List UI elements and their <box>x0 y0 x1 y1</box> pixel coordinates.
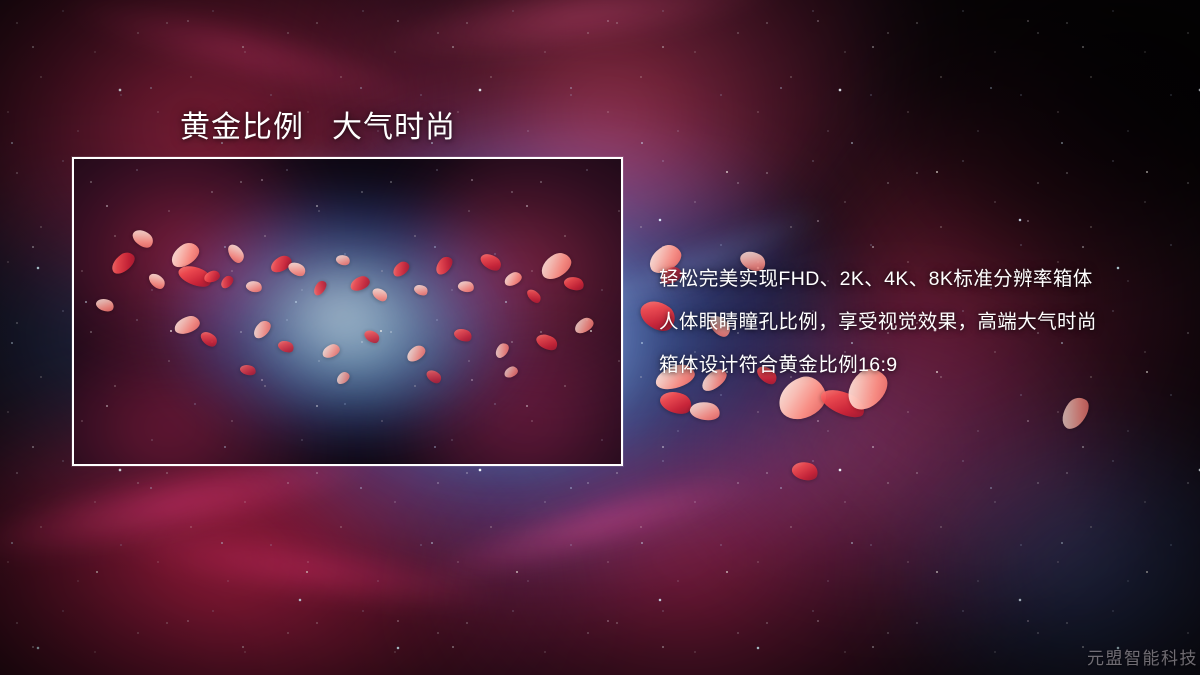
feature-description-block: 轻松完美实现FHD、2K、4K、8K标准分辨率箱体 人体眼睛瞳孔比例，享受视觉效… <box>659 258 1179 387</box>
presentation-slide: 黄金比例 大气时尚 轻松完美实现FHD、2K、4K、8K标准分辨率箱体 人体眼睛… <box>0 0 1200 675</box>
media-display-panel[interactable] <box>72 157 623 466</box>
feature-line: 箱体设计符合黄金比例16:9 <box>659 344 1179 387</box>
media-panel-content <box>74 159 621 464</box>
panel-starfield-medium <box>74 159 621 464</box>
company-watermark: 元盟智能科技 <box>1087 644 1198 669</box>
slide-title: 黄金比例 大气时尚 <box>180 102 456 146</box>
feature-line: 轻松完美实现FHD、2K、4K、8K标准分辨率箱体 <box>659 258 1179 301</box>
feature-line: 人体眼睛瞳孔比例，享受视觉效果，高端大气时尚 <box>659 301 1179 344</box>
